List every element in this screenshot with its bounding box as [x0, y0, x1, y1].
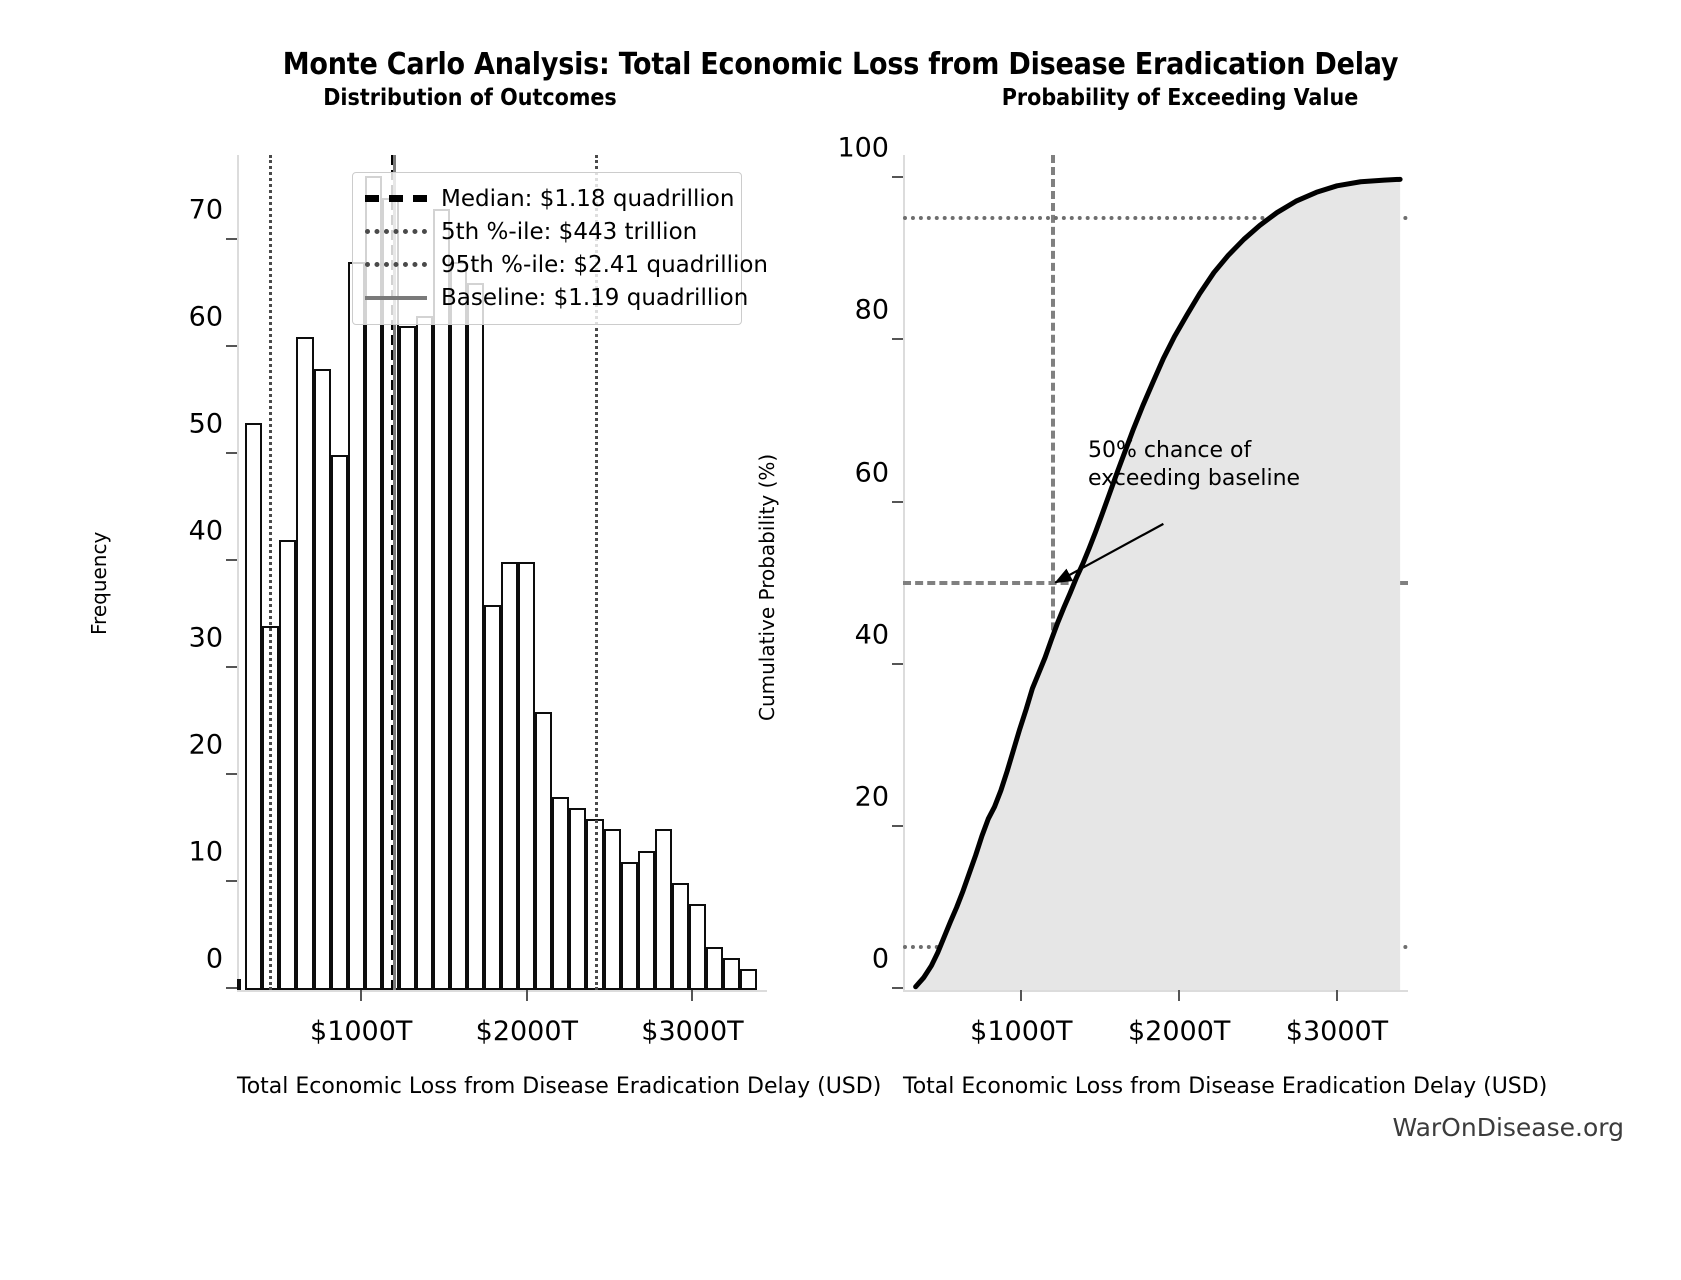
histogram-bar [655, 829, 672, 990]
y-tick-label: 10 [189, 836, 223, 867]
legend-label-p95: 95th %-ile: $2.41 quadrillion [441, 252, 768, 278]
left-chart-title: Distribution of Outcomes [160, 85, 780, 111]
y-tick-label: 80 [855, 295, 889, 326]
histogram-bar [245, 423, 262, 990]
histogram-bar [672, 883, 689, 990]
x-tick-label: $3000T [1286, 1016, 1388, 1047]
histogram-bar [621, 862, 638, 990]
histogram-bar [279, 540, 296, 990]
legend-label-median: Median: $1.18 quadrillion [441, 186, 734, 212]
cdf-x-axis-label: Total Economic Loss from Disease Eradica… [903, 1074, 1408, 1099]
histogram-bar [740, 969, 757, 990]
x-tick-label: $1000T [970, 1016, 1072, 1047]
histogram-bar [518, 562, 535, 990]
histogram-bar [552, 797, 569, 990]
histogram-bar [416, 316, 433, 990]
y-tick-mark [892, 825, 903, 827]
y-tick-mark [892, 663, 903, 665]
y-tick-mark [226, 666, 237, 668]
y-tick-mark [226, 452, 237, 454]
left-spine [237, 155, 239, 990]
annotation-arrow [903, 155, 1408, 990]
legend-item-median: Median: $1.18 quadrillion [365, 182, 729, 215]
figure-canvas: Monte Carlo Analysis: Total Economic Los… [0, 0, 1681, 1280]
histogram-bar [706, 947, 723, 990]
histogram-bar [723, 958, 740, 990]
cdf-annotation-text: 50% chance of exceeding baseline [1088, 437, 1300, 493]
right-chart-title: Probability of Exceeding Value [840, 85, 1520, 111]
y-tick-mark [226, 773, 237, 775]
x-tick-mark [1020, 990, 1022, 1001]
y-tick-mark [226, 238, 237, 240]
histogram-bar [331, 455, 348, 990]
y-tick-mark [226, 559, 237, 561]
legend-label-p5: 5th %-ile: $443 trillion [441, 219, 697, 245]
y-tick-mark [892, 176, 903, 178]
x-tick-label: $2000T [1128, 1016, 1230, 1047]
y-tick-label: 20 [189, 729, 223, 760]
x-tick-mark [526, 990, 528, 1001]
y-tick-label: 30 [189, 622, 223, 653]
histogram-bar [569, 808, 586, 990]
y-tick-label: 40 [855, 619, 889, 650]
y-tick-label: 20 [855, 781, 889, 812]
histogram-bar [467, 283, 484, 990]
y-tick-mark [892, 987, 903, 989]
x-tick-label: $1000T [310, 1016, 412, 1047]
cdf-axes: 020406080100 $1000T$2000T$3000T 50% chan… [903, 155, 1408, 990]
histogram-bar [604, 829, 621, 990]
legend-label-baseline: Baseline: $1.19 quadrillion [441, 285, 748, 311]
histogram-bar [237, 979, 241, 990]
y-tick-label: 60 [189, 301, 223, 332]
y-tick-mark [226, 345, 237, 347]
histogram-bar [501, 562, 518, 990]
histogram-bar [638, 851, 655, 990]
histogram-bar [433, 209, 450, 990]
dotted-line-key [365, 229, 427, 234]
x-tick-mark [1336, 990, 1338, 1001]
y-tick-label: 40 [189, 515, 223, 546]
histogram-bar [484, 605, 501, 990]
y-tick-mark [226, 987, 237, 989]
histogram-bar [450, 262, 467, 990]
cdf-y-axis-label: Cumulative Probability (%) [755, 453, 779, 720]
histogram-bar [296, 337, 313, 990]
footer-watermark: WarOnDisease.org [1392, 1113, 1624, 1142]
histogram-bar [314, 369, 331, 990]
solid-line-key [365, 296, 427, 300]
y-tick-mark [892, 501, 903, 503]
y-tick-label: 0 [872, 944, 889, 975]
legend-item-p5: 5th %-ile: $443 trillion [365, 215, 729, 248]
x-tick-mark [1178, 990, 1180, 1001]
x-tick-mark [360, 990, 362, 1001]
y-tick-label: 60 [855, 457, 889, 488]
x-tick-label: $2000T [476, 1016, 578, 1047]
y-tick-label: 0 [206, 944, 223, 975]
y-tick-label: 100 [837, 133, 889, 164]
figure-suptitle: Monte Carlo Analysis: Total Economic Los… [0, 47, 1681, 82]
histogram-bar [348, 262, 365, 990]
histogram-bar [399, 326, 416, 990]
histogram-y-axis-label: Frequency [87, 531, 111, 634]
legend-item-p95: 95th %-ile: $2.41 quadrillion [365, 248, 729, 281]
legend-item-baseline: Baseline: $1.19 quadrillion [365, 281, 729, 314]
bottom-spine [237, 990, 767, 992]
histogram-bar [689, 904, 706, 990]
dashed-line-key [365, 195, 427, 202]
dotted-line-key [365, 262, 427, 267]
bottom-spine [903, 990, 1408, 992]
y-tick-label: 50 [189, 408, 223, 439]
histogram-legend[interactable]: Median: $1.18 quadrillion 5th %-ile: $44… [352, 172, 742, 325]
y-tick-label: 70 [189, 194, 223, 225]
histogram-x-axis-label: Total Economic Loss from Disease Eradica… [237, 1074, 767, 1099]
marker-line-p5 [269, 155, 272, 990]
y-tick-mark [892, 338, 903, 340]
y-tick-mark [226, 880, 237, 882]
x-tick-mark [691, 990, 693, 1001]
x-tick-label: $3000T [641, 1016, 743, 1047]
histogram-bar [535, 712, 552, 990]
